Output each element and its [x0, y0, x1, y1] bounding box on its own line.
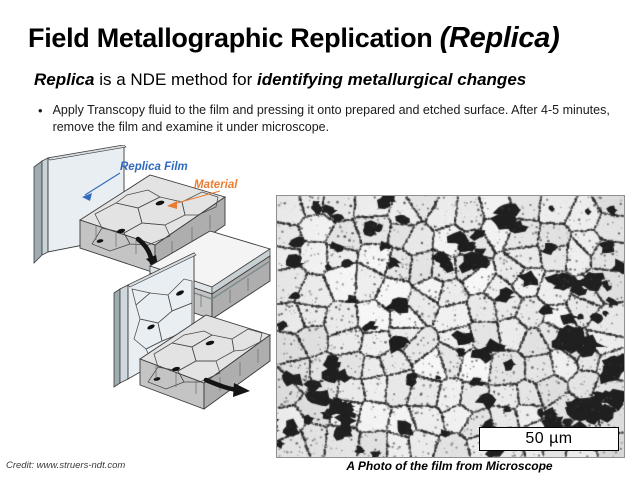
scale-bar: 50 µm	[479, 427, 619, 451]
page-title-emphasis: (Replica)	[440, 22, 560, 54]
subtitle-emphasis: identifying metallurgical changes	[257, 70, 526, 89]
page-title-plain: Field Metallographic Replication	[28, 23, 440, 53]
micrograph-caption: A Photo of the film from Microscope	[276, 459, 623, 473]
label-material: Material	[194, 179, 237, 191]
slide-canvas: Field Metallographic Replication (Replic…	[0, 0, 640, 480]
credit-line: Credit: www.struers-ndt.com	[6, 460, 125, 471]
subtitle-lead: Replica	[34, 70, 94, 89]
page-title: Field Metallographic Replication (Replic…	[28, 22, 618, 55]
label-replica-film: Replica Film	[120, 161, 188, 173]
micrograph-image: 50 µm	[276, 195, 625, 458]
bullet-text: Apply Transcopy fluid to the film and pr…	[53, 102, 628, 136]
scale-bar-label: 50 µm	[525, 430, 572, 448]
bullet-marker: •	[36, 102, 43, 136]
page-subtitle: Replica is a NDE method for identifying …	[34, 70, 624, 90]
micrograph-canvas	[277, 196, 624, 457]
bullet-item: • Apply Transcopy fluid to the film and …	[36, 102, 628, 136]
subtitle-mid: is a NDE method for	[94, 70, 257, 89]
